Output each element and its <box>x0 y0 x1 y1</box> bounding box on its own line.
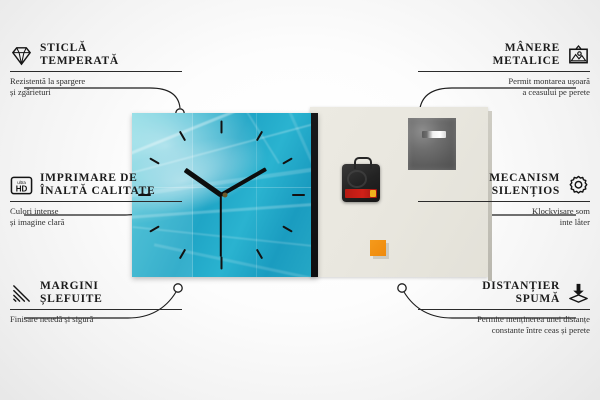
mechanism-hang-loop <box>354 157 372 169</box>
callout-foam-spacer: DISTANȚIER SPUMĂ Permite menținerea unei… <box>418 280 590 335</box>
infographic-stage: STICLĂ TEMPERATĂ Rezistentă la spargere … <box>0 0 600 400</box>
diamond-icon <box>10 44 33 67</box>
svg-text:HD: HD <box>16 184 28 193</box>
callout-rule <box>10 309 182 310</box>
clock-tick <box>282 225 293 232</box>
clock-tick <box>220 121 222 134</box>
callout-tempered-glass: STICLĂ TEMPERATĂ Rezistentă la spargere … <box>10 42 182 97</box>
callout-title-line1: MECANISM <box>489 172 560 184</box>
callout-polished-edges: MARGINI ȘLEFUITE Finisare netedă și sigu… <box>10 280 182 325</box>
arrow-down-stack-icon <box>567 282 590 305</box>
callout-sub-line1: Klockvisare som <box>532 206 590 216</box>
callout-title-line1: MARGINI <box>40 280 99 292</box>
ultra-hd-icon: ultra HD <box>10 174 33 197</box>
callout-title-line1: IMPRIMARE DE <box>40 172 138 184</box>
callout-high-quality-print: ultra HD IMPRIMARE DE ÎNALTĂ CALITATE Cu… <box>10 172 182 227</box>
clock-center-hub <box>223 193 228 198</box>
mechanism-dial <box>347 170 367 188</box>
clock-mechanism <box>342 164 380 202</box>
callout-sub-line2: constante între ceas și perete <box>492 325 590 335</box>
callout-sub-line1: Permite menținerea unei distanțe <box>477 314 590 324</box>
gear-icon <box>567 174 590 197</box>
callout-title-line2: SPUMĂ <box>516 293 560 305</box>
callout-title-line2: METALICE <box>493 55 560 67</box>
hanger-slot <box>422 131 446 138</box>
callout-title-line2: ȘLEFUITE <box>40 293 102 305</box>
picture-hanger-icon <box>567 44 590 67</box>
callout-rule <box>10 201 182 202</box>
mechanism-battery <box>345 189 377 198</box>
callout-title-line2: SILENȚIOS <box>492 185 560 197</box>
callout-rule <box>418 309 590 310</box>
callout-rule <box>10 71 182 72</box>
callout-title-line1: DISTANȚIER <box>482 280 560 292</box>
callout-silent-mechanism: MECANISM SILENȚIOS Klockvisare som inte … <box>418 172 590 227</box>
metal-hanger <box>408 118 456 170</box>
clock-hand-second <box>220 195 222 257</box>
callout-sub-line2: inte låter <box>560 217 590 227</box>
callout-title-line2: ÎNALTĂ CALITATE <box>40 185 155 197</box>
callout-sub-line2: și zgârieturi <box>10 87 51 97</box>
callout-title-line1: MÂNERE <box>505 42 560 54</box>
callout-sub-line1: Culori intense <box>10 206 58 216</box>
callout-sub-line1: Permit montarea ușoară <box>508 76 590 86</box>
diagonal-lines-icon <box>10 282 33 305</box>
clock-tick <box>292 194 305 196</box>
clock-tick <box>220 257 222 270</box>
callout-sub-line2: și imagine clară <box>10 217 64 227</box>
callout-sub-line1: Finisare netedă și sigură <box>10 314 93 324</box>
foam-spacer-pad <box>370 240 386 256</box>
callout-title-line1: STICLĂ <box>40 42 87 54</box>
callout-rule <box>418 201 590 202</box>
callout-sub-line1: Rezistentă la spargere <box>10 76 85 86</box>
callout-title-line2: TEMPERATĂ <box>40 55 119 67</box>
callout-metal-handles: MÂNERE METALICE Permit montarea ușoară a… <box>418 42 590 97</box>
clock-tick <box>282 157 293 164</box>
callout-sub-line2: a ceasului pe perete <box>522 87 590 97</box>
callout-rule <box>418 71 590 72</box>
